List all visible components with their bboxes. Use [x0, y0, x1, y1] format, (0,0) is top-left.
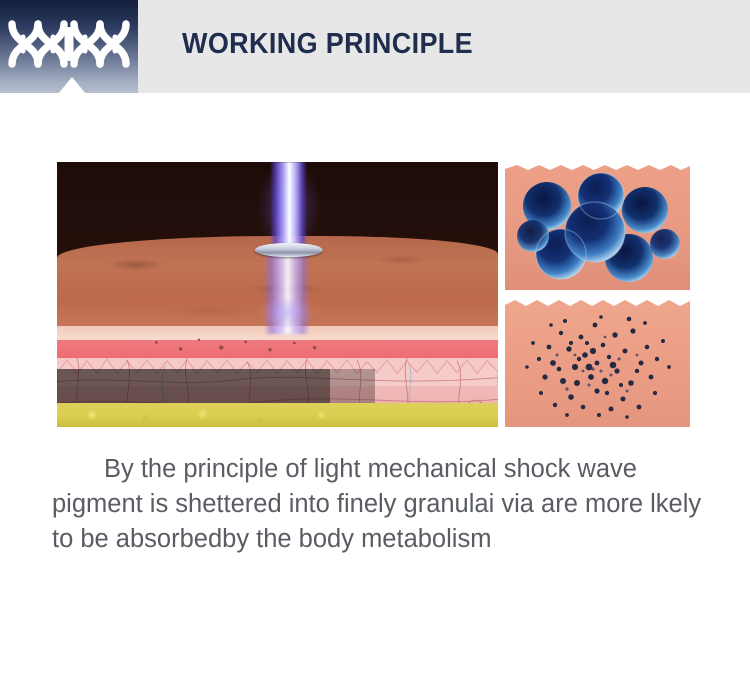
triangle-up-icon [58, 77, 86, 93]
shattered-pigment-closeup-image [505, 297, 690, 427]
laser-applicator-ring [254, 243, 322, 258]
page-header: WORKING PRINCIPLE [0, 0, 750, 93]
laser-beam-upper [270, 162, 308, 252]
dna-helix-icon [8, 18, 130, 70]
page-title: WORKING PRINCIPLE [182, 28, 473, 61]
pigment-cluster-closeup-image [505, 162, 690, 290]
laser-beam-spread [250, 300, 325, 342]
fat-texture [57, 403, 498, 427]
working-principle-slide: WORKING PRINCIPLE [0, 0, 750, 686]
laser-skin-cross-section-image [57, 162, 498, 427]
logo-block [0, 0, 138, 93]
media-gallery [57, 162, 690, 427]
caption-text: By the principle of light mechanical sho… [52, 452, 712, 557]
